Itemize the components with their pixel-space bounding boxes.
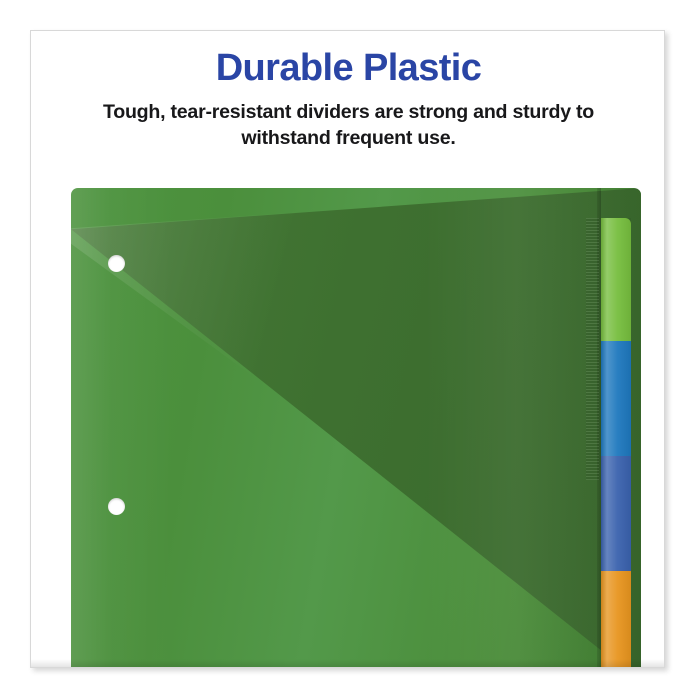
tab-indigo (601, 456, 631, 571)
punch-hole-bottom (108, 498, 125, 515)
tab-orange (601, 571, 631, 668)
headline-block: Durable Plastic Tough, tear-resistant di… (31, 45, 665, 151)
punch-hole-top (108, 255, 125, 272)
tab-green (601, 218, 631, 341)
tab-gloss-indigo (601, 456, 631, 571)
page-title: Durable Plastic (31, 45, 665, 91)
tab-blue (601, 341, 631, 456)
page-subtitle: Tough, tear-resistant dividers are stron… (66, 99, 632, 151)
product-image-card: Durable Plastic Tough, tear-resistant di… (30, 30, 665, 668)
tab-gloss-green (601, 218, 631, 341)
tab-gloss-orange (601, 571, 631, 668)
tab-gloss-blue (601, 341, 631, 456)
